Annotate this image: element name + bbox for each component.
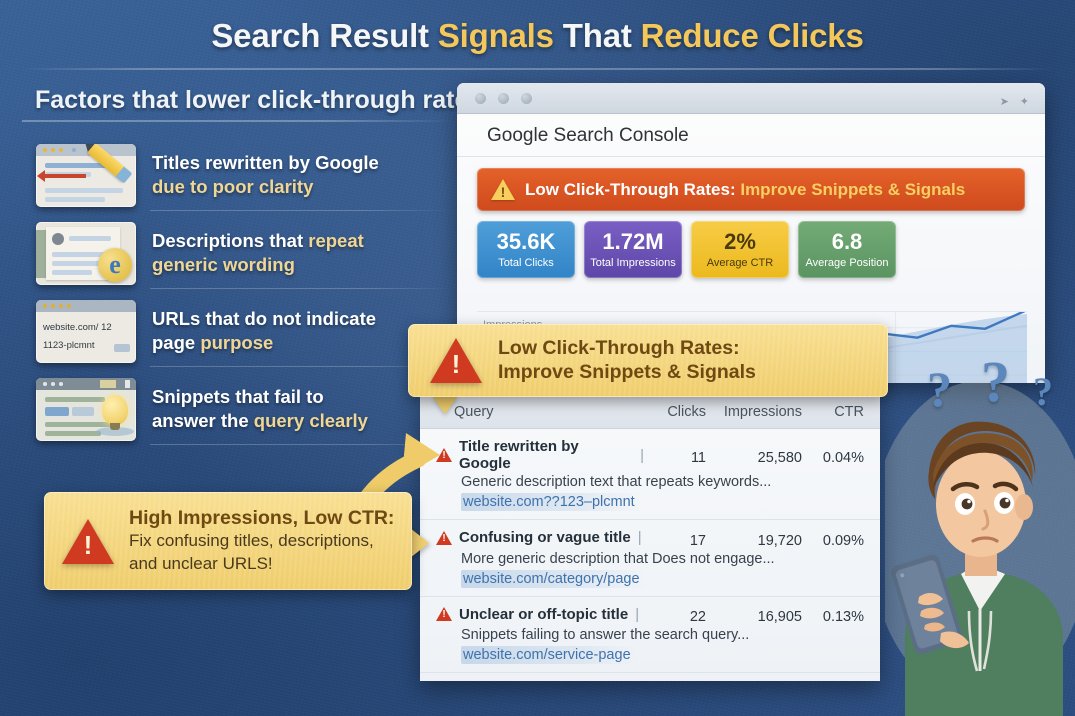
factor-item-titles[interactable]: Titles rewritten by Google due to poor c… xyxy=(36,140,456,210)
metric-label: Average CTR xyxy=(707,257,773,269)
callout-left-tail xyxy=(410,528,429,558)
banner-text-gold: Improve Snippets & Signals xyxy=(740,180,965,199)
sparkle-icon[interactable]: ✦ xyxy=(1020,95,1029,108)
callout-line-1: High Impressions, Low CTR: xyxy=(129,507,394,529)
warning-triangle-icon xyxy=(62,519,114,564)
confused-person-illustration xyxy=(885,371,1075,716)
factor-line2: page xyxy=(152,332,200,353)
column-header-impressions: Impressions xyxy=(706,404,802,420)
column-header-query: Query xyxy=(454,404,644,420)
metric-value: 6.8 xyxy=(832,230,863,253)
factor-line2: generic wording xyxy=(152,254,295,275)
row-description: More generic description that Does not e… xyxy=(461,551,864,567)
row-ctr: 0.04% xyxy=(802,450,864,466)
metric-label: Total Impressions xyxy=(590,257,676,269)
title-part-1: Search Result xyxy=(211,17,437,54)
console-heading: Google Search Console xyxy=(457,114,1045,157)
metric-card-average-position[interactable]: 6.8 Average Position xyxy=(798,221,896,278)
row-title-pipe: | xyxy=(635,606,639,623)
banner-text-white: Low Click-Through Rates: xyxy=(525,180,740,199)
row-ctr: 0.13% xyxy=(802,609,864,625)
metric-card-total-clicks[interactable]: 35.6K Total Clicks xyxy=(477,221,575,278)
metric-value: 2% xyxy=(724,230,756,253)
row-clicks: 11 xyxy=(644,450,706,466)
title-part-2: Signals xyxy=(438,17,554,54)
question-mark-icon: ? xyxy=(1033,368,1053,415)
page-title: Search Result Signals That Reduce Clicks xyxy=(0,17,1075,55)
row-title-text: Confusing or vague title xyxy=(459,529,631,546)
row-query-title: Unclear or off-topic title | xyxy=(436,606,644,623)
title-part-3: That xyxy=(554,17,641,54)
metric-label: Total Clicks xyxy=(498,257,554,269)
row-title-pipe: | xyxy=(638,529,642,546)
factor-label: URLs that do not indicate page purpose xyxy=(152,307,376,354)
left-heading-divider xyxy=(22,120,452,122)
row-title-text: Unclear or off-topic title xyxy=(459,606,628,623)
row-url[interactable]: website.com/category/page xyxy=(461,570,646,588)
window-close-dot[interactable] xyxy=(475,93,486,104)
factor-item-urls[interactable]: website.com/ 12 1123-plcmnt URLs that do… xyxy=(36,296,456,366)
factor-line1: URLs that do not indicate xyxy=(152,308,376,329)
metric-cards: 35.6K Total Clicks 1.72M Total Impressio… xyxy=(477,221,1045,278)
row-description: Snippets failing to answer the search qu… xyxy=(461,627,864,643)
question-mark-icon: ? xyxy=(927,360,952,418)
factor-item-descriptions[interactable]: Descriptions that repeat generic wording xyxy=(36,218,456,288)
factor-line2: due to poor clarity xyxy=(152,176,313,197)
search-results-table[interactable]: Query Clicks Impressions CTR Title rewri… xyxy=(420,396,880,681)
factor-line2: answer the xyxy=(152,410,254,431)
callout-low-ctr: Low Click-Through Rates: Improve Snippet… xyxy=(408,324,888,397)
table-header-row: Query Clicks Impressions CTR xyxy=(420,396,880,429)
metric-value: 1.72M xyxy=(602,230,663,253)
left-section-heading: Factors that lower click-through rates xyxy=(35,86,482,115)
table-row[interactable]: Unclear or off-topic title | 22 16,905 0… xyxy=(420,597,880,674)
factor-line1: Snippets that fail to xyxy=(152,386,324,407)
callout-line-3: and unclear URLS! xyxy=(129,554,273,573)
row-query-title: Title rewritten by Google | xyxy=(436,438,644,472)
row-title-text: Title rewritten by Google xyxy=(459,438,633,472)
low-ctr-banner: Low Click-Through Rates: Improve Snippet… xyxy=(477,168,1025,211)
factor-label: Titles rewritten by Google due to poor c… xyxy=(152,151,379,198)
column-header-clicks: Clicks xyxy=(644,404,706,420)
window-title-bar: ➤ ✦ xyxy=(457,83,1045,114)
browser-url-icon: website.com/ 12 1123-plcmnt xyxy=(36,300,136,363)
factor-divider xyxy=(150,288,450,289)
thumb-url-line-2: 1123-plcmnt xyxy=(43,340,95,351)
row-query-title: Confusing or vague title | xyxy=(436,529,644,546)
title-divider xyxy=(22,68,1053,70)
factor-line2-accent: purpose xyxy=(200,332,273,353)
snippet-lightbulb-icon xyxy=(36,378,136,441)
row-ctr: 0.09% xyxy=(802,533,864,549)
title-part-4: Reduce Clicks xyxy=(641,17,864,54)
callout-line-1: Low Click-Through Rates: xyxy=(498,337,740,359)
document-refresh-icon xyxy=(36,222,136,285)
factor-divider xyxy=(150,210,450,211)
warning-triangle-icon xyxy=(436,607,452,621)
window-minimize-dot[interactable] xyxy=(498,93,509,104)
browser-pencil-icon xyxy=(36,144,136,207)
row-clicks: 17 xyxy=(644,533,706,549)
factor-line1: Titles rewritten by Google xyxy=(152,152,379,173)
row-impressions: 19,720 xyxy=(706,533,802,549)
factor-label: Snippets that fail to answer the query c… xyxy=(152,385,368,432)
row-description: Generic description text that repeats ke… xyxy=(461,474,864,490)
callout-high-impressions: High Impressions, Low CTR: Fix confusing… xyxy=(44,492,412,590)
table-row[interactable]: Confusing or vague title | 17 19,720 0.0… xyxy=(420,520,880,597)
callout-top-tail xyxy=(432,396,458,414)
warning-triangle-icon xyxy=(491,179,515,200)
callout-line-2: Improve Snippets & Signals xyxy=(498,361,756,383)
row-clicks: 22 xyxy=(644,609,706,625)
question-mark-icon: ? xyxy=(981,348,1010,415)
row-url[interactable]: website.com/service-page xyxy=(461,646,637,664)
metric-card-total-impressions[interactable]: 1.72M Total Impressions xyxy=(584,221,682,278)
window-maximize-dot[interactable] xyxy=(521,93,532,104)
callout-line-2: Fix confusing titles, descriptions, xyxy=(129,531,374,550)
metric-label: Average Position xyxy=(806,257,889,269)
factor-label: Descriptions that repeat generic wording xyxy=(152,229,364,276)
table-row[interactable]: Title rewritten by Google | 11 25,580 0.… xyxy=(420,429,880,520)
row-impressions: 16,905 xyxy=(706,609,802,625)
infographic-canvas: Search Result Signals That Reduce Clicks… xyxy=(0,0,1075,716)
metric-value: 35.6K xyxy=(497,230,556,253)
factor-divider xyxy=(150,366,450,367)
send-icon[interactable]: ➤ xyxy=(1000,95,1009,108)
factor-line1: Descriptions that xyxy=(152,230,308,251)
row-url[interactable]: website.com??123–plcmnt xyxy=(461,493,641,511)
factor-line1-accent: repeat xyxy=(308,230,364,251)
column-header-ctr: CTR xyxy=(802,404,864,420)
thumb-url-line-1: website.com/ 12 xyxy=(43,322,112,333)
warning-triangle-icon xyxy=(430,338,482,383)
metric-card-average-ctr[interactable]: 2% Average CTR xyxy=(691,221,789,278)
row-impressions: 25,580 xyxy=(706,450,802,466)
